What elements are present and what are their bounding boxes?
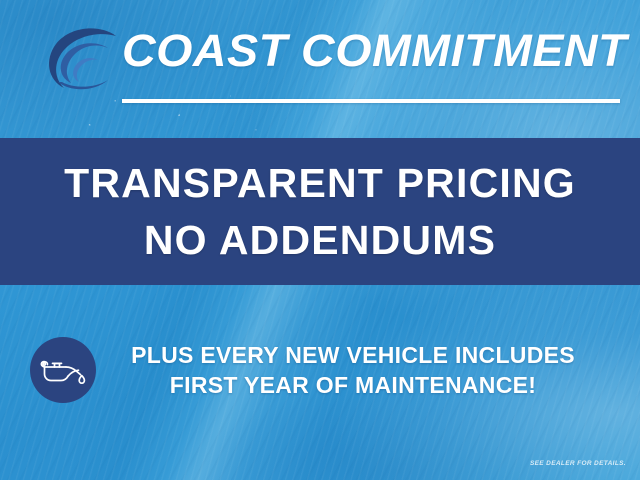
promo-text-block: PLUS EVERY NEW VEHICLE INCLUDES FIRST YE… — [112, 340, 594, 400]
headline-line-2: NO ADDENDUMS — [144, 212, 496, 269]
promo-line-1: PLUS EVERY NEW VEHICLE INCLUDES — [112, 340, 594, 370]
coast-commitment-banner: COAST COMMITMENT TRANSPARENT PRICING NO … — [0, 0, 640, 480]
disclaimer-text: SEE DEALER FOR DETAILS. — [530, 459, 626, 468]
promo-line-2: FIRST YEAR OF MAINTENANCE! — [112, 370, 594, 400]
header-divider — [122, 99, 620, 103]
headline-line-1: TRANSPARENT PRICING — [64, 155, 576, 212]
promo-row: PLUS EVERY NEW VEHICLE INCLUDES FIRST YE… — [0, 322, 640, 418]
page-title: COAST COMMITMENT — [122, 21, 640, 81]
banner-header: COAST COMMITMENT — [0, 0, 640, 138]
headline-band: TRANSPARENT PRICING NO ADDENDUMS — [0, 138, 640, 285]
oil-can-icon — [30, 337, 96, 403]
wave-swirl-logo-icon — [38, 22, 122, 94]
